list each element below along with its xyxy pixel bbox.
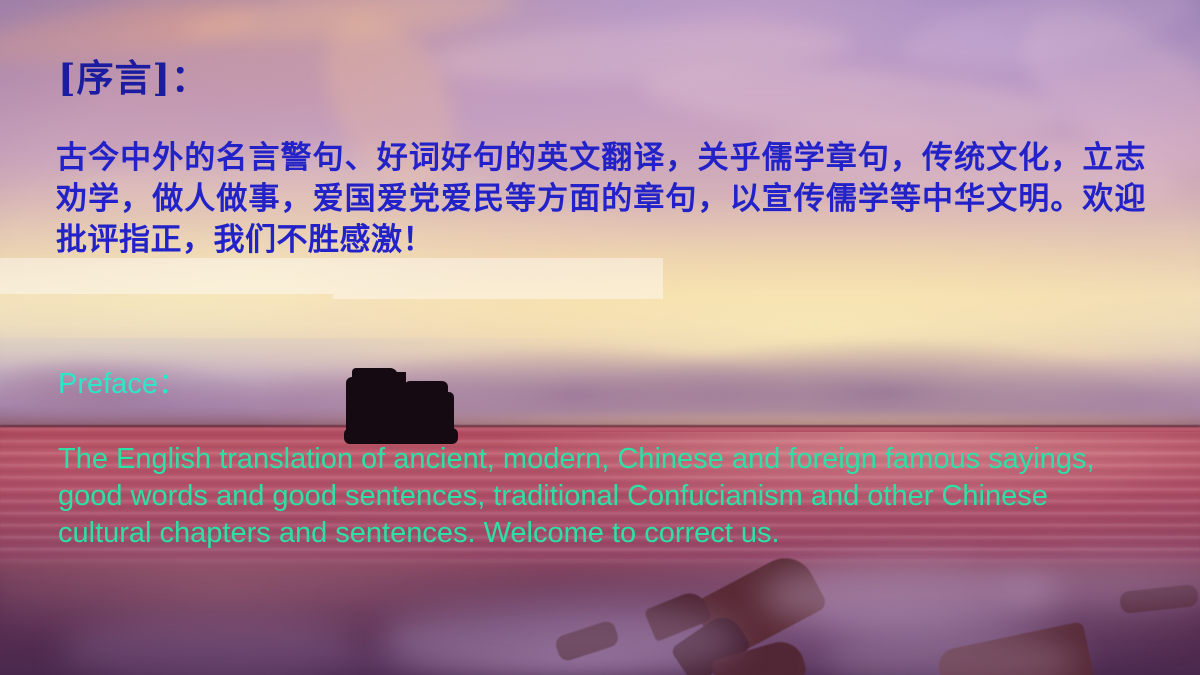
chinese-body-text: 古今中外的名言警句、好词好句的英文翻译，关乎儒学章句，传统文化，立志劝学，做人做… [56, 138, 1146, 261]
slide-canvas: [序言]： 古今中外的名言警句、好词好句的英文翻译，关乎儒学章句，传统文化，立志… [0, 0, 1200, 675]
overlay-band-left [0, 258, 333, 294]
english-heading: Preface： [58, 360, 187, 402]
overlay-band-right [333, 258, 663, 299]
english-body-text: The English translation of ancient, mode… [58, 441, 1118, 552]
chinese-heading: [序言]： [58, 48, 209, 102]
